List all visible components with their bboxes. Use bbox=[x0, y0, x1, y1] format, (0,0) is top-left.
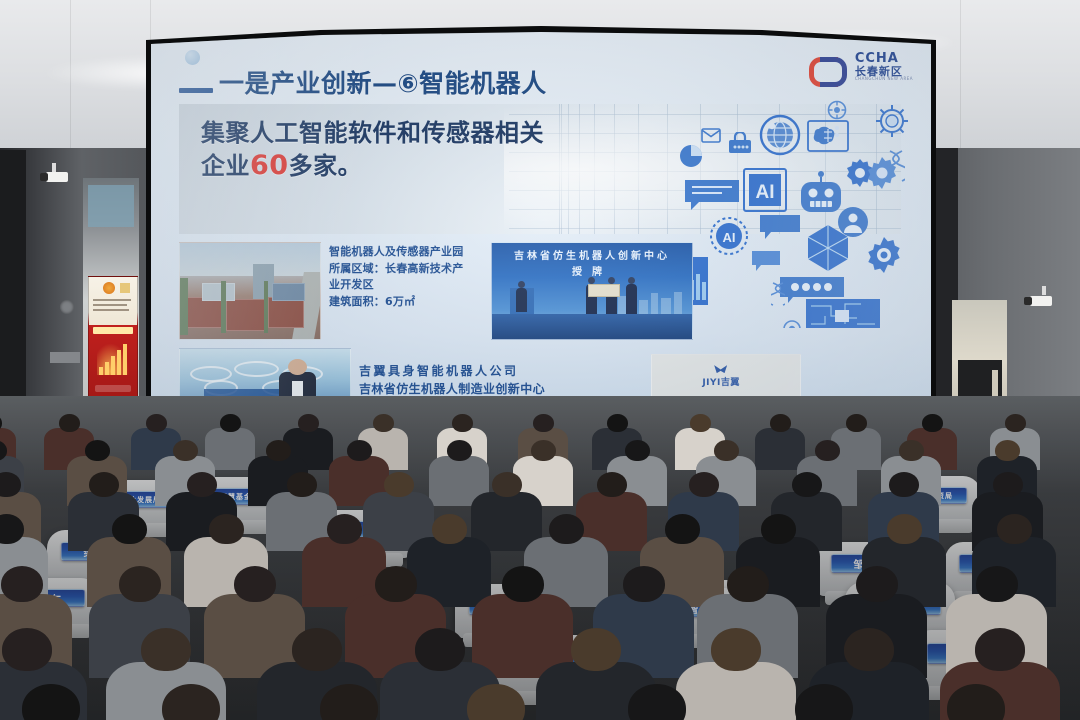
head bbox=[795, 684, 853, 720]
head bbox=[209, 514, 244, 544]
award-ceremony-photo: 吉林省仿生机器人创新中心 授牌 bbox=[491, 242, 693, 340]
headline-line-2-pre: 企业 bbox=[201, 152, 250, 180]
head bbox=[690, 414, 711, 432]
head bbox=[792, 472, 822, 497]
head bbox=[665, 514, 700, 544]
head bbox=[187, 472, 217, 497]
envelope-mail-icon bbox=[701, 128, 721, 143]
award-photo-title: 吉林省仿生机器人创新中心 bbox=[492, 247, 692, 262]
head bbox=[373, 414, 394, 432]
head bbox=[447, 440, 472, 461]
head bbox=[220, 414, 241, 432]
gear-icon bbox=[865, 236, 903, 274]
svg-text:AI: AI bbox=[723, 230, 736, 245]
head bbox=[993, 472, 1023, 497]
audience-member bbox=[121, 684, 260, 720]
head bbox=[844, 628, 894, 671]
head bbox=[856, 566, 898, 602]
svg-text:AI: AI bbox=[756, 182, 775, 203]
head bbox=[327, 514, 362, 544]
ccha-logo-icon bbox=[809, 54, 849, 80]
head bbox=[711, 628, 761, 671]
camera-mount bbox=[1042, 286, 1046, 295]
title-underline bbox=[179, 88, 213, 93]
slide-title-row: 一是产业创新—⑥智能机器人 bbox=[179, 64, 547, 100]
circuit-board-icon bbox=[805, 298, 881, 328]
head bbox=[976, 566, 1018, 602]
head bbox=[815, 440, 840, 461]
headline-number: 60 bbox=[250, 150, 289, 181]
brand-sub: CHANGCHUN NEW AREA bbox=[855, 77, 913, 81]
head bbox=[571, 628, 621, 671]
pie-chart-icon bbox=[679, 144, 703, 168]
head bbox=[1, 566, 43, 602]
head bbox=[467, 684, 525, 720]
audience-member bbox=[426, 684, 565, 720]
industrial-park-photo bbox=[179, 242, 321, 340]
led-screen: 一是产业创新—⑥智能机器人 CCHA 长春新区 CHANGCHUN NEW AR… bbox=[151, 32, 931, 450]
head bbox=[347, 440, 372, 461]
head bbox=[112, 514, 147, 544]
head bbox=[623, 566, 665, 602]
dna-helix-icon bbox=[887, 150, 905, 182]
slide-title: 一是产业创新—⑥智能机器人 bbox=[219, 64, 547, 100]
head bbox=[947, 684, 1005, 720]
head bbox=[89, 472, 119, 497]
lock-keypad-icon bbox=[727, 132, 753, 154]
audience-area: 樊牧鹿李 仁智慧基金中心长翔集团产业发展局刘 瑞 融朱 恩 玛王 凯邹智远邹宏原… bbox=[0, 396, 1080, 720]
ai-badge-icon: AI bbox=[709, 216, 749, 256]
head bbox=[415, 628, 465, 671]
brand-en: CCHA bbox=[855, 52, 913, 66]
head bbox=[889, 472, 919, 497]
headline-line-2-post: 多家。 bbox=[289, 152, 363, 180]
head bbox=[922, 414, 943, 432]
head bbox=[173, 440, 198, 461]
head bbox=[689, 472, 719, 497]
audience-member bbox=[0, 684, 120, 720]
head bbox=[770, 414, 791, 432]
elevator-indicator bbox=[50, 352, 80, 363]
headline-line-1: 集聚人工智能软件和传感器相关 bbox=[201, 118, 544, 149]
head bbox=[997, 514, 1032, 544]
head bbox=[452, 414, 473, 432]
head bbox=[146, 414, 167, 432]
head bbox=[1005, 414, 1026, 432]
park-info-line: 业开发区 bbox=[329, 277, 489, 294]
security-camera-icon bbox=[46, 172, 68, 182]
head bbox=[502, 566, 544, 602]
chat-bubble-icon bbox=[683, 178, 741, 212]
head bbox=[887, 514, 922, 544]
ai-brain-chip-icon bbox=[807, 120, 849, 152]
dna-helix-icon bbox=[771, 282, 785, 306]
head bbox=[761, 514, 796, 544]
head bbox=[607, 414, 628, 432]
award-photo-subtitle: 授牌 bbox=[492, 263, 692, 278]
head bbox=[625, 440, 650, 461]
polygon-network-icon bbox=[805, 224, 851, 272]
head bbox=[549, 514, 584, 544]
camera-mount bbox=[52, 163, 56, 172]
slide-headline: 集聚人工智能软件和传感器相关 企业60多家。 bbox=[201, 118, 544, 183]
brand-logo: CCHA 长春新区 CHANGCHUN NEW AREA bbox=[809, 52, 913, 81]
head bbox=[492, 472, 522, 497]
audience-member bbox=[279, 684, 418, 720]
head bbox=[119, 566, 161, 602]
head bbox=[266, 440, 291, 461]
chat-bubble-icon bbox=[759, 214, 801, 240]
head bbox=[899, 440, 924, 461]
head bbox=[292, 628, 342, 671]
head bbox=[320, 684, 378, 720]
presentation-slide: 一是产业创新—⑥智能机器人 CCHA 长春新区 CHANGCHUN NEW AR… bbox=[151, 32, 931, 450]
park-info-line: 建筑面积：6万㎡ bbox=[329, 294, 489, 311]
head bbox=[375, 566, 417, 602]
elevator-call-button[interactable] bbox=[60, 300, 74, 314]
head bbox=[162, 684, 220, 720]
audience-member bbox=[754, 684, 893, 720]
head bbox=[22, 684, 80, 720]
sun-gear-icon bbox=[875, 104, 909, 138]
head bbox=[533, 414, 554, 432]
head bbox=[2, 628, 52, 671]
head bbox=[298, 414, 319, 432]
decor-dot-icon bbox=[185, 50, 200, 65]
globe-network-icon bbox=[759, 114, 801, 156]
org-line: 吉翼具身智能机器人公司 bbox=[359, 362, 659, 380]
head bbox=[531, 440, 556, 461]
head bbox=[714, 440, 739, 461]
head bbox=[975, 628, 1025, 671]
chat-bubble-icon bbox=[751, 250, 781, 272]
head bbox=[846, 414, 867, 432]
head bbox=[995, 440, 1020, 461]
park-info-text: 智能机器人及传感器产业园 所属区域：长春高新技术产 业开发区 建筑面积：6万㎡ bbox=[329, 244, 489, 311]
lobby-logo-text: JIYI吉翼 bbox=[702, 375, 740, 388]
head bbox=[432, 514, 467, 544]
head bbox=[597, 472, 627, 497]
head bbox=[628, 684, 686, 720]
head bbox=[141, 628, 191, 671]
head bbox=[384, 472, 414, 497]
network-node-icon bbox=[827, 100, 847, 120]
head bbox=[234, 566, 276, 602]
ai-icon-cluster: AI AI bbox=[679, 98, 925, 328]
head bbox=[85, 440, 110, 461]
conference-photo-scene: 安 安 一是产业创新—⑥智能机器人 CCHA 长春新区 bbox=[0, 0, 1080, 720]
audience-member bbox=[587, 684, 726, 720]
node-circle-icon bbox=[783, 320, 801, 328]
park-info-line: 所属区域：长春高新技术产 bbox=[329, 261, 489, 278]
ai-box-icon: AI bbox=[743, 168, 787, 212]
head bbox=[287, 472, 317, 497]
head bbox=[59, 414, 80, 432]
park-info-line: 智能机器人及传感器产业园 bbox=[329, 244, 489, 261]
head bbox=[727, 566, 769, 602]
security-camera-icon bbox=[1030, 296, 1052, 306]
audience-member bbox=[906, 684, 1045, 720]
